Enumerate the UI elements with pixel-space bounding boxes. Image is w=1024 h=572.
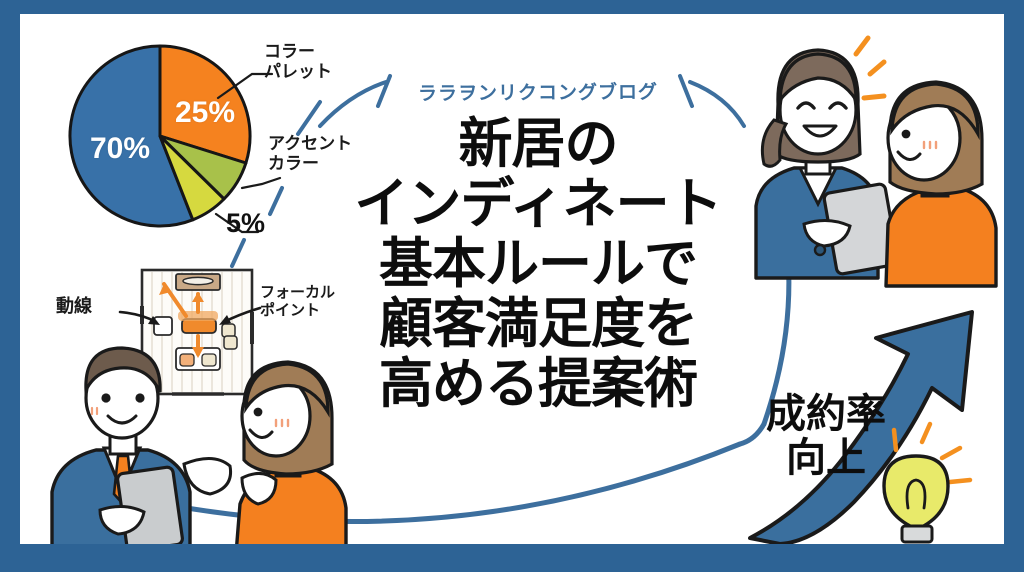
- focal-label-arrowhead: [219, 315, 231, 325]
- eyebrow-text: ララヲンリクコングブログ: [338, 77, 738, 107]
- customer-woman-figure-2: [236, 362, 346, 544]
- title-line-5: 高める提案術: [338, 354, 738, 414]
- businesswoman-button: [815, 245, 825, 255]
- floorplan-focal-label: フォーカル ポイント: [260, 284, 335, 320]
- salesman-eye-left: [101, 393, 110, 402]
- pie-callout-color-palette-line2: パレット: [264, 62, 332, 82]
- customer2-eye: [254, 408, 263, 417]
- conversion-rate-line1: 成約率: [746, 392, 906, 436]
- salesman-figure: [52, 348, 231, 544]
- title-line-2: インディネート: [338, 174, 738, 234]
- pie-value-5: 5%: [226, 208, 265, 239]
- sparkle-icon: [856, 38, 884, 98]
- pie-callout-color-palette-line1: コラー: [264, 42, 332, 62]
- flourish-dash-1: [298, 102, 320, 134]
- title-line-4: 顧客満足度を: [338, 294, 738, 354]
- customer-woman-figure: [886, 82, 996, 286]
- floorplan-flow-label: 動線: [56, 297, 92, 315]
- title-line-1: 新居の: [338, 114, 738, 174]
- pie-value-25: 25%: [175, 96, 235, 130]
- conversion-rate-text: 成約率 向上: [746, 392, 906, 480]
- conversion-rate-line2: 向上: [746, 436, 906, 480]
- customer-body: [886, 188, 996, 286]
- businesswoman-figure: [756, 50, 899, 278]
- page-title: 新居の インディネート 基本ルールで 顧客満足度を 高める提案術: [338, 114, 738, 414]
- title-line-3: 基本ルールで: [338, 234, 738, 294]
- flow-label-arrowhead: [148, 316, 160, 325]
- customer-eye: [902, 130, 911, 139]
- floorplan-focal-label-line2: ポイント: [260, 302, 335, 320]
- thumbnail-canvas: 70% 25% 5% コラー パレット アクセント カラー: [20, 14, 1004, 544]
- pie-value-70: 70%: [90, 132, 150, 166]
- lightbulb-base: [902, 526, 932, 542]
- pie-callout-color-palette: コラー パレット: [264, 42, 332, 82]
- pie-leader-accent: [242, 178, 280, 188]
- salesman-eye-right: [135, 393, 144, 402]
- floorplan-focal-label-line1: フォーカル: [260, 284, 335, 302]
- illustration-bottom-left: [38, 342, 358, 544]
- thumbnail-frame: 70% 25% 5% コラー パレット アクセント カラー: [0, 0, 1024, 572]
- illustration-top-right: [738, 28, 1004, 290]
